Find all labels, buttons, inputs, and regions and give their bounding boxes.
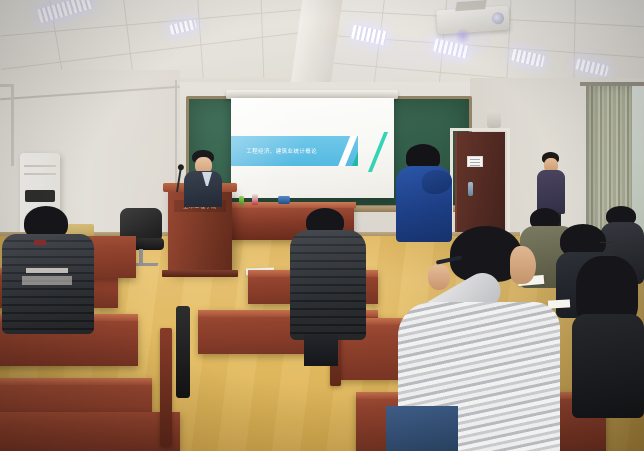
lecture-hall-photo: 工程经济、建筑业统计概论 土木工程学院 — [0, 0, 644, 451]
jacket-quilting — [290, 230, 366, 340]
slide-title-text: 工程经济、建筑业统计概论 — [246, 147, 317, 155]
classroom-door[interactable] — [455, 132, 505, 240]
student-trousers — [304, 334, 338, 366]
attendee-hand — [428, 264, 450, 290]
desk-top — [0, 378, 152, 385]
attendee-jeans — [386, 406, 458, 451]
eyeglasses-icon — [600, 242, 614, 245]
wall-speaker — [487, 110, 501, 128]
door-sign — [467, 156, 483, 167]
ac-control-panel[interactable] — [25, 190, 55, 202]
desk-foreground-left — [0, 412, 180, 451]
thermos-cup-red[interactable] — [252, 194, 258, 205]
jacket-print-text — [22, 276, 72, 285]
ceiling-projector — [436, 6, 509, 35]
ac-vent-2 — [24, 173, 56, 175]
attendee-black-top — [572, 314, 644, 418]
slide-stripe-accent — [368, 132, 388, 172]
water-bottle-green[interactable] — [239, 196, 244, 205]
slide-title-band: 工程经济、建筑业统计概论 — [231, 136, 358, 166]
jacket-print-graphic — [26, 268, 68, 273]
door-handle[interactable] — [468, 182, 473, 196]
projection-screen: 工程经济、建筑业统计概论 — [231, 98, 394, 198]
foreground-attendee-striped-shirt — [398, 226, 568, 451]
projector-bracket — [455, 0, 487, 11]
ac-vent-1 — [24, 165, 56, 167]
podium-base — [162, 270, 238, 277]
wooden-chair-foreground — [160, 328, 172, 446]
presenter-at-podium — [192, 150, 232, 210]
seated-attendee-long-hair — [576, 256, 644, 416]
water-bottle-blue[interactable] — [278, 196, 290, 204]
presenter-suit — [184, 171, 222, 207]
wall-conduit-vertical — [11, 84, 14, 166]
seated-student-black-jacket-left — [2, 206, 94, 336]
bench-backrest-center — [176, 306, 190, 398]
jacket-shoulder-patch — [34, 240, 46, 245]
student-puffer-jacket — [290, 230, 366, 340]
attendee-face-profile — [510, 246, 536, 284]
projector-lens — [492, 12, 505, 25]
curtain-rod — [580, 82, 644, 86]
seated-student-black-puffer — [290, 208, 368, 368]
